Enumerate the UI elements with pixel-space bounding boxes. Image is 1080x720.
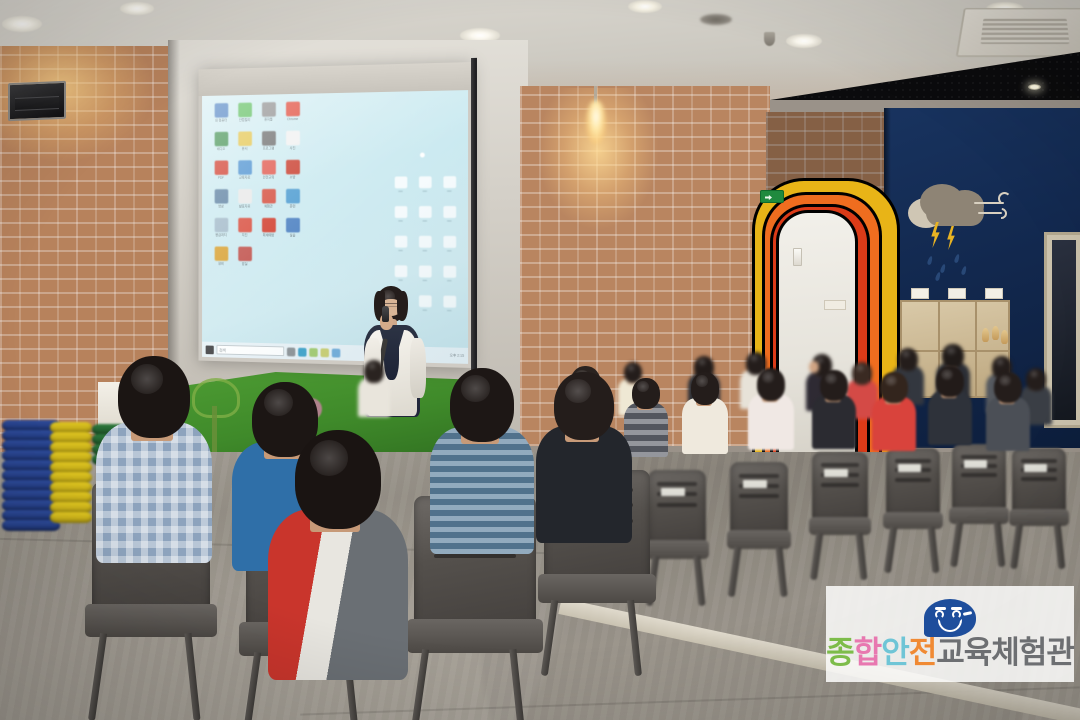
chair-label-sticker [743,480,767,488]
audience-member [928,366,972,454]
microphone[interactable] [382,306,389,322]
chrome-icon[interactable] [309,348,317,357]
folder-icon-label: •••• [438,219,460,223]
audience-member-torso [748,394,794,450]
audience-member-torso [872,397,916,451]
desktop-icon-label: 획재예방 [258,233,278,237]
hair-highlight [762,371,775,383]
audience-member [536,372,632,564]
audience-member [986,372,1030,460]
chair-backrest [812,452,868,521]
chair-vent-slot [1021,477,1058,481]
hair-highlight [310,440,348,476]
desktop-icon-label: 암실 [235,262,255,266]
windows-taskbar[interactable]: 검색 오후 2:15 [202,342,468,364]
audience-member-torso [682,398,728,454]
folder-icon[interactable]: •••• [438,266,460,283]
desktop-icon-glyph [286,189,300,204]
audience-member-head [898,348,918,371]
folder-icon-label: •••• [390,278,411,282]
folder-icon-label: •••• [390,249,411,253]
chair-label-sticker [898,464,921,472]
hair-highlight [941,369,953,380]
audience-member-head [820,370,847,401]
hair-highlight [368,362,377,370]
soffit-led-3 [1028,84,1041,90]
desktop-icon[interactable]: 안전교육 [258,160,278,179]
desktop-icon[interactable]: 훈련 [282,189,302,208]
desktop-icon-label: 휴지통 [258,117,278,121]
folder-icon-glyph [394,265,407,277]
chair-seat [538,574,657,603]
audience-chair[interactable] [1012,448,1066,554]
audience-member [358,360,390,424]
desktop-icon-glyph [214,160,228,174]
chair-vent-slot [821,483,859,487]
folder-icon-glyph [418,266,431,278]
audience-member-head [118,356,190,438]
audience-member [430,368,534,576]
desktop-icon[interactable]: 발표자료 [235,189,255,208]
projected-desktop: 내 컴퓨터안럽철리휴지통Chrome비디오문서프로그램사진PDF교육자료안전교육… [202,90,468,364]
cubby-item-2 [992,326,999,340]
desktop-icon-label: 안전교육 [258,175,278,179]
folder-icon-label: •••• [438,279,460,283]
audience-member-torso [430,427,534,554]
audience-member-head [295,430,382,529]
audience-member-torso [96,422,212,564]
desktop-icon-label: 체험관 [258,204,278,208]
desktop-icon-label: 문서 [235,147,255,151]
mouse-cursor [420,153,425,158]
ceiling-light-4 [628,0,662,13]
chair-vent-slot [895,478,932,482]
chair-label-sticker [1024,464,1047,472]
watermark-text-part-4: 전 [909,638,937,669]
desktop-icon-glyph [262,160,276,175]
desktop-icon[interactable]: 암실 [235,247,255,266]
screen-side-rail [471,58,477,374]
desktop-icon-glyph [238,218,252,232]
mural-tree-trunk [212,406,217,452]
chair-seat [85,604,217,638]
desktop-icon-label: 내 컴퓨터 [211,118,231,122]
folder-icon[interactable]: •••• [438,206,460,223]
hair-highlight [750,354,759,362]
watermark-text-part-1: 종 [826,638,854,669]
emergency-exit-sign [760,190,784,203]
desktop-icon-glyph [214,246,228,260]
desktop-icon-glyph [214,218,228,232]
desktop-icon-label: 안럽철리 [235,118,255,122]
cubby-item-3 [1001,330,1008,344]
folder-icon-glyph [443,206,456,218]
audience-member-head [936,366,963,397]
chair-vent-slot [739,494,778,498]
desktop-icon-label: 실습 [282,233,302,237]
desktop-icon-glyph [238,131,252,146]
hair-highlight [131,364,163,394]
audience-member [872,372,916,460]
desktop-icon[interactable]: 응급처치 [211,218,231,237]
audience-member-head [757,368,786,401]
audience-member [268,430,408,710]
folder-icon-label: •••• [414,249,435,253]
audience-chair[interactable] [812,452,868,564]
cubby-label-3 [985,288,1003,299]
hair-highlight [856,364,865,372]
folder-icon-glyph [418,206,431,218]
desktop-icon[interactable]: Chrome [282,102,302,122]
desktop-icon-label: 장비 [211,262,231,266]
hair-highlight [1030,370,1039,378]
folder-icon-glyph [418,236,431,248]
desktop-icon-glyph [286,160,300,175]
folder-icon[interactable]: •••• [390,206,411,223]
desktop-icon-label: PDF [211,176,231,180]
audience-chair[interactable] [648,470,706,590]
folder-icon[interactable]: •••• [414,236,435,253]
desktop-icon-glyph [286,218,300,233]
desktop-icon-glyph [214,189,228,203]
desktop-icon[interactable]: 프로그램 [258,131,278,151]
folder-icon-label: •••• [414,278,435,282]
desktop-icon-label: 교육자료 [235,176,255,180]
audience-member [748,368,794,460]
desktop-icon-glyph [262,218,276,232]
tire [50,512,92,523]
folder-icon-glyph [394,236,407,248]
desktop-icon[interactable]: 지진 [235,218,255,237]
desktop-icon[interactable]: 교육자료 [235,160,255,179]
chair-vent-slot [739,474,778,478]
clock-digits [15,96,59,111]
watermark-text-part-2: 합 [854,638,882,669]
smiling-face-logo-icon [924,599,976,637]
tire-stack-yellow [50,422,92,522]
presenter-hair-right [397,291,408,321]
folder-icon[interactable]: •••• [390,236,411,253]
photo-scene: 내 컴퓨터안럽철리휴지통Chrome비디오문서프로그램사진PDF교육자료안전교육… [0,0,1080,720]
media-icon[interactable] [321,348,329,357]
folder-icon[interactable]: •••• [438,236,460,253]
desktop-icon[interactable]: 영상 [211,189,231,208]
audience-member-head [364,360,384,383]
desktop-icon-glyph [238,160,252,175]
folder-icon-label: •••• [390,189,411,193]
desktop-icon-glyph [262,102,276,117]
desktop-icon-glyph [286,131,300,146]
audience-member-head [880,372,907,403]
cubby-item-1 [982,328,989,342]
ceiling-light-2 [120,2,154,15]
desktop-icon-label: 비디오 [211,147,231,151]
desktop-icon-label: 응급처치 [211,233,231,237]
desktop-icon-glyph [262,189,276,204]
wall-mounted-sensor [793,248,802,266]
chair-seat [407,619,544,653]
hair-highlight [999,375,1011,386]
watermark-text: 종합안전교육체험관 [826,638,1074,669]
audience-member [682,372,728,464]
folder-icon[interactable]: •••• [414,206,435,223]
desktop-icon[interactable]: 내 컴퓨터 [211,103,231,122]
start-button-icon[interactable] [206,345,214,354]
taskbar-search-input[interactable]: 검색 [216,345,284,356]
desktop-icon-label: 사진 [282,146,302,150]
desktop-icon[interactable]: 비디오 [211,132,231,151]
desktop-icon-glyph [238,247,252,261]
audience-member-torso [268,509,408,680]
audience-chair[interactable] [730,462,788,580]
desktop-icon-label: 영상 [211,204,231,208]
folder-icon-glyph [443,176,456,188]
arch-signage-plate [824,300,846,310]
presenter-arm-left [410,338,426,398]
desktop-icon[interactable]: 안럽철리 [235,103,255,123]
folder-icon-label: •••• [414,189,435,193]
watermark-text-part-5: 교육체험관 [936,638,1074,669]
chair-label-sticker [824,469,848,477]
folder-icon-label: •••• [414,219,435,223]
audience-member-torso [986,397,1030,451]
desktop-icon-glyph [238,189,252,203]
cubby-divider-2 [975,302,977,396]
air-conditioner-unit [956,8,1080,57]
watermark-text-part-3: 안 [881,638,909,669]
edge-icon[interactable] [298,347,306,356]
cubby-label-2 [948,288,966,299]
folder-icon[interactable] [332,348,340,357]
chair-vent-slot [961,473,998,477]
folder-icon[interactable]: •••• [414,265,435,282]
digital-clock-panel [8,81,66,122]
audience-member [812,370,856,458]
folder-icon[interactable]: •••• [390,176,411,193]
folder-icon-label: •••• [438,308,460,312]
wind-swirl-1 [998,192,1011,205]
desktop-icon-glyph [262,131,276,146]
folder-icon-glyph [443,236,456,248]
audience-chair[interactable] [886,448,940,558]
desktop-icon-label: 훈련 [282,204,302,208]
audience-member-head [632,378,659,409]
desktop-icon-label: 소방 [282,175,302,179]
folder-icon[interactable]: •••• [438,296,460,313]
desktop-icon[interactable]: 소방 [282,160,302,180]
hair-highlight [698,358,707,366]
folder-icon-label: •••• [438,189,460,193]
desktop-icon-label: 지진 [235,233,255,237]
audience-member-head [942,344,963,368]
folder-icon[interactable]: •••• [390,265,411,282]
chair-label-sticker [964,460,987,468]
sprinkler-head [764,32,775,46]
desktop-icon[interactable]: 체험관 [258,189,278,208]
desktop-icon-label: Chrome [282,117,302,121]
folder-icon-glyph [418,176,431,188]
audience-member [96,356,212,588]
hair-highlight [996,358,1005,366]
chair-backrest [730,462,788,535]
cubby-label-1 [911,288,929,299]
audience-member-torso [812,395,856,449]
pendant-light [586,100,606,144]
audience-chair[interactable] [952,444,1006,552]
audience-member-head [450,368,514,442]
hair-highlight [946,346,955,355]
folder-icon-glyph [443,296,456,308]
taskbar-clock[interactable]: 오후 2:15 [450,353,464,357]
folder-icon-glyph [394,206,407,218]
hair-highlight [627,364,635,372]
desktop-icon[interactable]: 사진 [282,131,302,151]
hair-highlight [264,389,293,416]
chair-leg [242,652,261,720]
audience-member-torso [928,391,972,445]
hair-highlight [696,375,709,387]
desktop-icon-glyph [214,132,228,147]
ceiling-light-5 [786,34,822,48]
chair-vent-slot [821,463,859,467]
desktop-icon-glyph [238,103,252,118]
hair-highlight [885,375,897,386]
folder-icon[interactable]: •••• [438,176,460,193]
folder-icon-label: •••• [438,249,460,253]
ceiling-light-1 [2,16,42,32]
desktop-icon[interactable]: 실습 [282,218,302,237]
ceiling-vent [700,14,732,25]
folder-icon-label: •••• [390,219,411,223]
chair-vent-slot [657,503,696,507]
folder-icon[interactable]: •••• [414,176,435,193]
hair-highlight [825,373,837,384]
audience-member-torso [536,426,632,543]
chair-label-sticker [661,488,685,496]
explorer-icon[interactable] [287,347,295,356]
desktop-icon-label: 발표자료 [235,204,255,208]
projection-screen[interactable]: 내 컴퓨터안럽철리휴지통Chrome비디오문서프로그램사진PDF교육자료안전교육… [198,62,472,368]
hair-highlight [902,350,911,358]
hair-highlight [565,379,591,403]
audience-member-head [691,372,720,405]
hair-highlight [637,381,649,392]
audience-member-head [554,372,614,440]
desktop-icon-label: 프로그램 [258,146,278,150]
chair-vent-slot [657,482,696,486]
door-glass-pane [1052,240,1076,420]
desktop-icon[interactable]: PDF [211,160,231,179]
chair-backrest [648,470,706,544]
desktop-icon-glyph [214,103,228,118]
desktop-icon-glyph [286,102,300,117]
audience-member-torso [358,378,390,417]
desktop-icon[interactable]: 획재예방 [258,218,278,237]
venue-watermark-logo: 종합안전교육체험관 [826,586,1074,682]
desktop-icon[interactable]: 휴지통 [258,102,278,122]
ac-grill [981,19,1070,45]
desktop-icon[interactable]: 장비 [211,246,231,265]
hair-highlight [461,375,489,401]
folder-icon-glyph [443,266,456,278]
folder-icon-glyph [394,176,407,188]
desktop-icon[interactable]: 문서 [235,131,255,150]
audience-member-head [994,372,1021,403]
desktop-icon-grid: 내 컴퓨터안럽철리휴지통Chrome비디오문서프로그램사진PDF교육자료안전교육… [211,101,320,103]
